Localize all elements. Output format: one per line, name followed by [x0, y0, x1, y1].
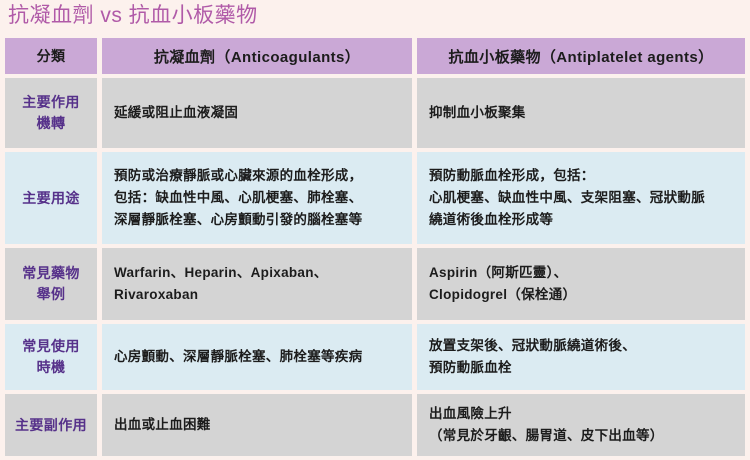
table-row: 常見藥物 舉例 Warfarin、Heparin、Apixaban、 Rivar… [5, 248, 745, 320]
header-antiplatelets: 抗血小板藥物（Antiplatelet agents） [417, 38, 745, 74]
infographic-page: 抗凝血劑 vs 抗血小板藥物 分類 抗凝血劑（Anticoagulants） 抗… [0, 0, 750, 411]
header-category: 分類 [5, 38, 97, 74]
row-label-side-effects: 主要副作用 [5, 394, 97, 456]
row-label-common-drugs: 常見藥物 舉例 [5, 248, 97, 320]
row-label-line1: 主要用途 [5, 188, 97, 209]
page-title: 抗凝血劑 vs 抗血小板藥物 [8, 2, 258, 30]
cell-drugs-antiplatelet: Aspirin（阿斯匹靈）、 Clopidogrel（保栓通） [417, 248, 745, 320]
table-row: 常見使用 時機 心房顫動、深層靜脈栓塞、肺栓塞等疾病 放置支架後、冠狀動脈繞道術… [5, 324, 745, 390]
cell-text-line: 心肌梗塞、缺血性中風、支架阻塞、冠狀動脈 [429, 187, 735, 209]
cell-text-line: 繞道術後血栓形成等 [429, 209, 735, 231]
cell-text-line: 預防或治療靜脈或心臟來源的血栓形成， [114, 165, 402, 187]
cell-text: 抑制血小板聚集 [429, 102, 735, 124]
cell-when-antiplatelet: 放置支架後、冠狀動脈繞道術後、 預防動脈血栓 [417, 324, 745, 390]
row-label-line2: 時機 [5, 357, 97, 378]
row-label-line1: 常見藥物 [5, 263, 97, 284]
cell-text-line: 放置支架後、冠狀動脈繞道術後、 [429, 335, 735, 357]
cell-uses-antiplatelet: 預防動脈血栓形成，包括： 心肌梗塞、缺血性中風、支架阻塞、冠狀動脈 繞道術後血栓… [417, 152, 745, 244]
table-header-row: 分類 抗凝血劑（Anticoagulants） 抗血小板藥物（Antiplate… [5, 38, 745, 74]
cell-uses-anticoagulant: 預防或治療靜脈或心臟來源的血栓形成， 包括：缺血性中風、心肌梗塞、肺栓塞、 深層… [102, 152, 412, 244]
cell-text-line: 預防動脈血栓形成，包括： [429, 165, 735, 187]
table-row: 主要副作用 出血或止血困難 出血風險上升 （常見於牙齦、腸胃道、皮下出血等） [5, 394, 745, 456]
cell-text: 心房顫動、深層靜脈栓塞、肺栓塞等疾病 [114, 346, 402, 368]
row-label-when-used: 常見使用 時機 [5, 324, 97, 390]
row-label-line1: 常見使用 [5, 336, 97, 357]
cell-side-antiplatelet: 出血風險上升 （常見於牙齦、腸胃道、皮下出血等） [417, 394, 745, 456]
row-label-line1: 主要作用 [5, 92, 97, 113]
cell-mechanism-antiplatelet: 抑制血小板聚集 [417, 78, 745, 148]
cell-text-line: （常見於牙齦、腸胃道、皮下出血等） [429, 425, 735, 447]
header-anticoagulants: 抗凝血劑（Anticoagulants） [102, 38, 412, 74]
cell-text-line: 預防動脈血栓 [429, 357, 735, 379]
cell-text: 延緩或阻止血液凝固 [114, 102, 402, 124]
cell-drugs-anticoagulant: Warfarin、Heparin、Apixaban、 Rivaroxaban [102, 248, 412, 320]
row-label-line1: 主要副作用 [5, 415, 97, 436]
comparison-table: 分類 抗凝血劑（Anticoagulants） 抗血小板藥物（Antiplate… [0, 34, 750, 460]
cell-mechanism-anticoagulant: 延緩或阻止血液凝固 [102, 78, 412, 148]
cell-text-line: Warfarin、Heparin、Apixaban、 [114, 262, 402, 284]
cell-text-line: 深層靜脈栓塞、心房顫動引發的腦栓塞等 [114, 209, 402, 231]
cell-text-line: Rivaroxaban [114, 284, 402, 306]
row-label-line2: 舉例 [5, 284, 97, 305]
table-row: 主要用途 預防或治療靜脈或心臟來源的血栓形成， 包括：缺血性中風、心肌梗塞、肺栓… [5, 152, 745, 244]
cell-text-line: 出血風險上升 [429, 403, 735, 425]
cell-text-line: 包括：缺血性中風、心肌梗塞、肺栓塞、 [114, 187, 402, 209]
cell-side-anticoagulant: 出血或止血困難 [102, 394, 412, 456]
cell-when-anticoagulant: 心房顫動、深層靜脈栓塞、肺栓塞等疾病 [102, 324, 412, 390]
row-label-line2: 機轉 [5, 113, 97, 134]
row-label-mechanism: 主要作用 機轉 [5, 78, 97, 148]
cell-text-line: Clopidogrel（保栓通） [429, 284, 735, 306]
cell-text-line: Aspirin（阿斯匹靈）、 [429, 262, 735, 284]
row-label-main-uses: 主要用途 [5, 152, 97, 244]
cell-text: 出血或止血困難 [114, 414, 402, 436]
table-row: 主要作用 機轉 延緩或阻止血液凝固 抑制血小板聚集 [5, 78, 745, 148]
